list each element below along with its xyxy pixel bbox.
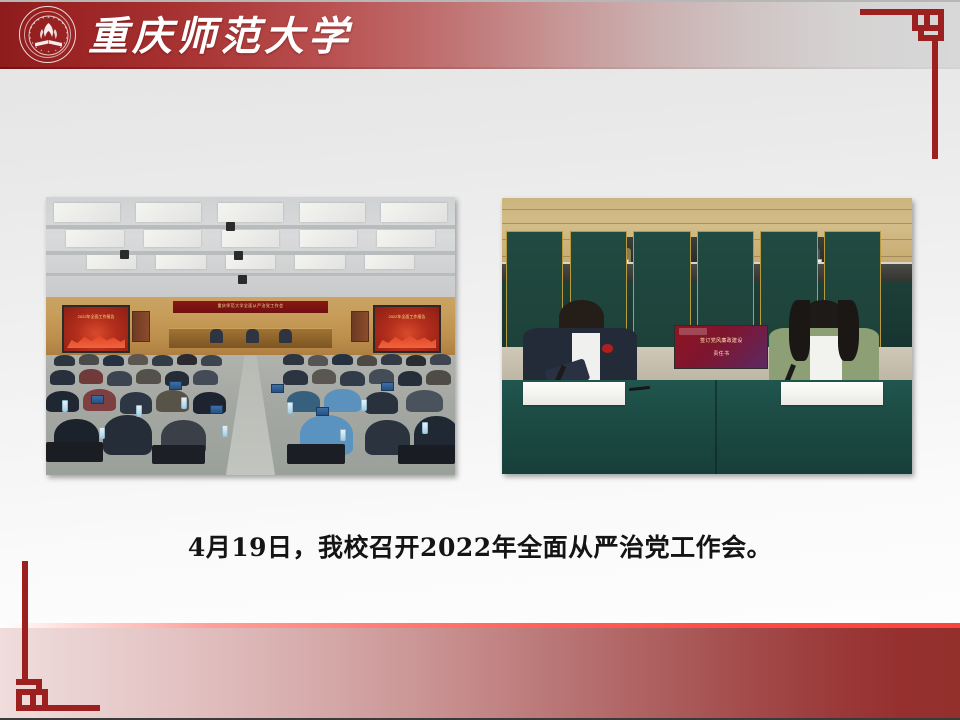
photo-signing-ceremony: 签订党风廉政建设 责任书: [502, 198, 912, 474]
university-wordmark: 重庆师范大学: [88, 4, 352, 62]
corner-ornament-top-right-icon: [860, 9, 944, 159]
screen-logo-icon: [679, 328, 707, 335]
presentation-slide: 重庆师范大学: [0, 0, 960, 720]
signing-document-left: [523, 382, 626, 405]
hall-screen-right: 2022年全面工作报告: [373, 305, 440, 352]
slide-caption: 4月19日，我校召开2022年全面从严治党工作会。: [0, 528, 960, 564]
seal-emblem: [20, 7, 77, 64]
signing-screen-line2: 责任书: [675, 350, 767, 357]
signing-ceremony-screen: 签订党风廉政建设 责任书: [674, 325, 768, 369]
university-seal-icon: [19, 6, 76, 63]
signing-screen-line1: 签订党风廉政建设: [675, 337, 767, 344]
top-hairline: [0, 0, 960, 2]
hall-screen-left: 2022年全面工作报告: [62, 305, 129, 352]
footer-band: [0, 628, 960, 720]
hall-screen-left-text: 2022年全面工作报告: [64, 314, 127, 320]
photo-conference-hall: 重庆师范大学全面从严治党工作会 2022年全面工作报告 2022年全面工作报告: [46, 197, 455, 475]
stage-banner-text: 重庆师范大学全面从严治党工作会: [173, 303, 328, 309]
stage-banner: 重庆师范大学全面从严治党工作会: [173, 301, 328, 313]
hall-audience: [46, 350, 455, 475]
hall-screen-right-text: 2022年全面工作报告: [375, 314, 438, 320]
corner-ornament-bottom-left-icon: [16, 561, 100, 711]
signing-document-right: [781, 382, 884, 405]
